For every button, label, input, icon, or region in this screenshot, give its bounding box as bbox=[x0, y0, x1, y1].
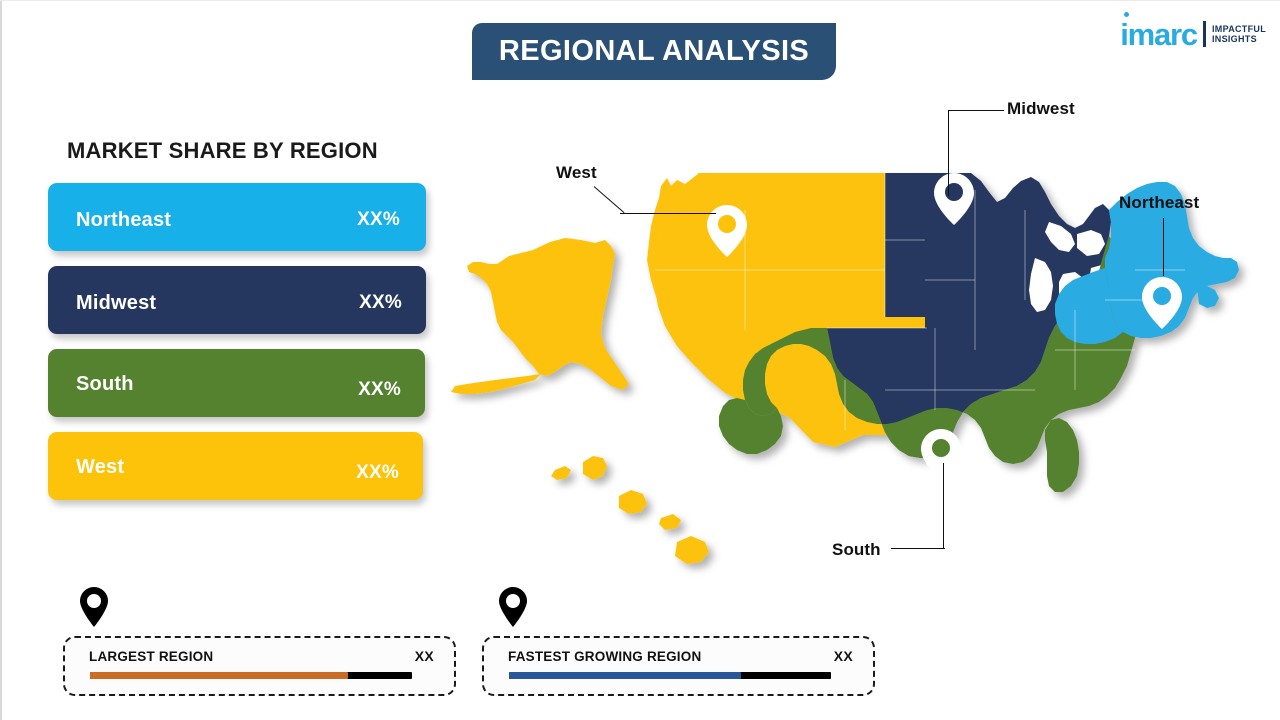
map-region-alaska bbox=[467, 238, 629, 390]
logo-wordmark: imarc bbox=[1120, 19, 1201, 50]
largest-region-label: LARGEST REGION bbox=[89, 649, 213, 664]
fastest-region-pin-icon bbox=[497, 586, 529, 628]
us-regional-map[interactable] bbox=[415, 150, 1280, 570]
slide-canvas: REGIONAL ANALYSIS imarc IMPACTFUL INSIGH… bbox=[0, 0, 1280, 720]
page-title-banner: REGIONAL ANALYSIS bbox=[472, 23, 836, 80]
map-pin-south bbox=[921, 429, 961, 481]
map-region-hawaii bbox=[551, 456, 709, 564]
map-region-northeast-cape bbox=[1197, 286, 1219, 308]
leader-line-south-horizontal bbox=[891, 548, 945, 549]
fastest-growing-region-progress-track bbox=[509, 672, 831, 679]
map-callout-south: South bbox=[832, 540, 881, 560]
legend-value-midwest: XX% bbox=[359, 292, 402, 314]
leader-line-west-horizontal bbox=[620, 213, 716, 214]
imarc-logo: imarc IMPACTFUL INSIGHTS bbox=[1120, 14, 1266, 54]
legend-label-south: South bbox=[76, 373, 358, 396]
largest-region-pin-icon bbox=[78, 586, 110, 628]
largest-region-card[interactable]: LARGEST REGION XX bbox=[63, 636, 456, 696]
legend-label-west: West bbox=[76, 456, 356, 479]
map-callout-midwest: Midwest bbox=[1007, 99, 1075, 119]
fastest-growing-region-value: XX bbox=[834, 648, 853, 664]
largest-region-progress-track bbox=[90, 672, 412, 679]
legend-label-northeast: Northeast bbox=[76, 209, 357, 232]
leader-line-northeast-vertical bbox=[1163, 218, 1164, 276]
fastest-growing-region-row: FASTEST GROWING REGION XX bbox=[508, 648, 853, 664]
leader-line-midwest-vertical bbox=[948, 110, 949, 196]
legend-label-midwest: Midwest bbox=[76, 292, 359, 315]
leader-line-south-vertical bbox=[943, 463, 944, 549]
legend-item-northeast[interactable]: Northeast XX% bbox=[48, 183, 426, 251]
legend-item-midwest[interactable]: Midwest XX% bbox=[48, 266, 426, 334]
logo-tagline-line-2: INSIGHTS bbox=[1212, 34, 1266, 44]
slide-top-border bbox=[0, 0, 1280, 1]
largest-region-value: XX bbox=[415, 648, 434, 664]
map-region-alaska-aleutians bbox=[451, 374, 541, 394]
legend-value-west: XX% bbox=[356, 462, 399, 484]
largest-region-row: LARGEST REGION XX bbox=[89, 648, 434, 664]
fastest-growing-region-progress-fill bbox=[509, 672, 741, 679]
logo-tagline-line-1: IMPACTFUL bbox=[1212, 24, 1266, 34]
market-share-heading: MARKET SHARE BY REGION bbox=[67, 138, 378, 164]
fastest-growing-region-label: FASTEST GROWING REGION bbox=[508, 649, 701, 664]
page-title: REGIONAL ANALYSIS bbox=[499, 37, 809, 66]
map-region-south-florida bbox=[1045, 418, 1079, 492]
legend-item-south[interactable]: South XX% bbox=[48, 349, 425, 417]
logo-dot-icon bbox=[1124, 12, 1129, 17]
largest-region-progress-fill bbox=[90, 672, 348, 679]
logo-divider bbox=[1203, 21, 1206, 47]
fastest-growing-region-card[interactable]: FASTEST GROWING REGION XX bbox=[482, 636, 875, 696]
market-share-legend: Northeast XX% Midwest XX% South XX% West… bbox=[48, 183, 428, 515]
map-callout-northeast: Northeast bbox=[1119, 193, 1199, 213]
legend-value-south: XX% bbox=[358, 379, 401, 401]
slide-left-border bbox=[0, 0, 2, 720]
leader-line-midwest-horizontal bbox=[948, 110, 1004, 111]
legend-value-northeast: XX% bbox=[357, 209, 402, 231]
legend-item-west[interactable]: West XX% bbox=[48, 432, 423, 500]
map-callout-west: West bbox=[556, 163, 597, 183]
logo-tagline: IMPACTFUL INSIGHTS bbox=[1212, 24, 1266, 45]
